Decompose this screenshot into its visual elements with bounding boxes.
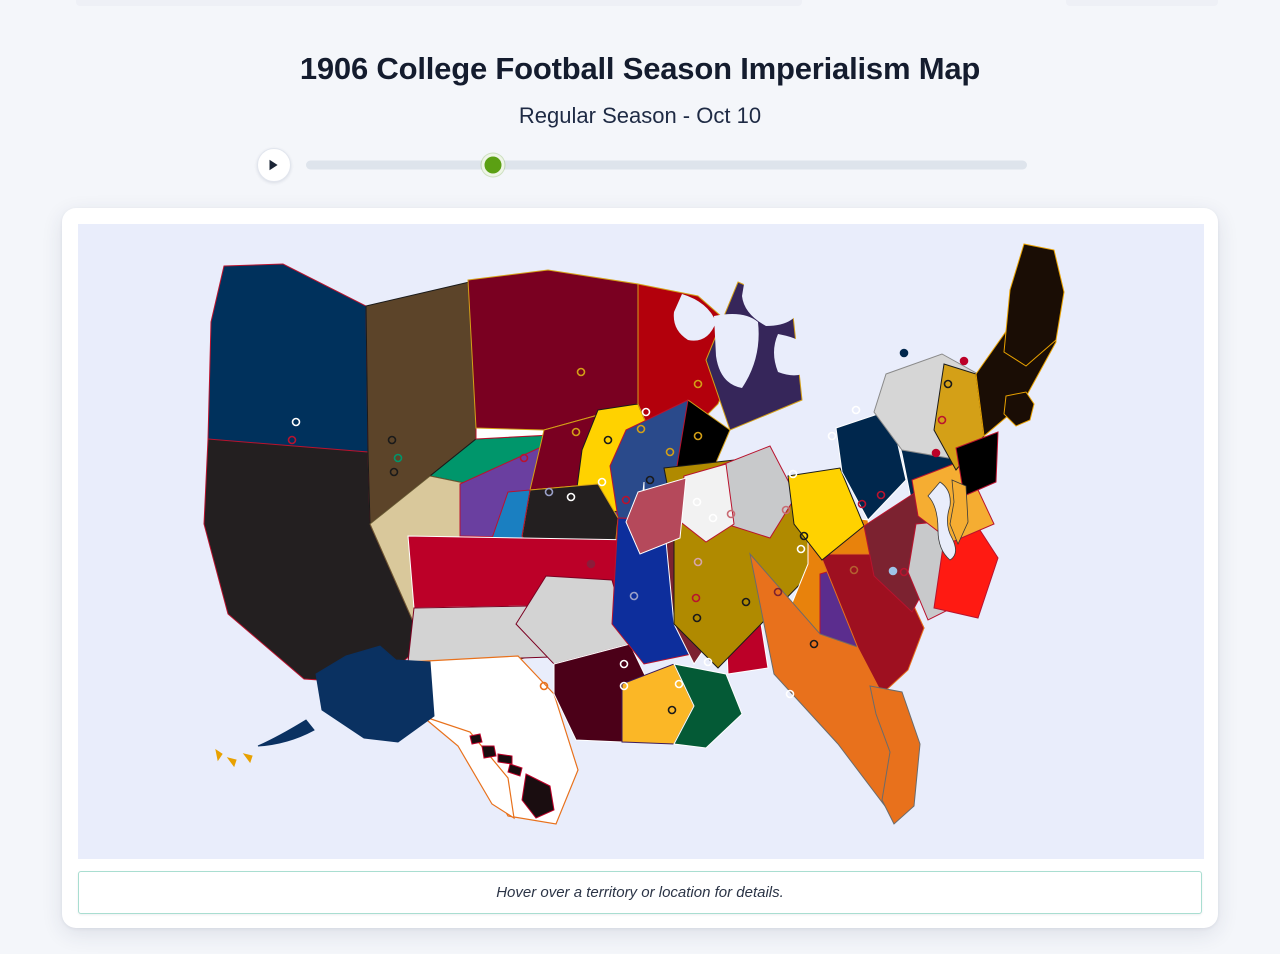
play-button[interactable] <box>257 148 291 182</box>
territory-pacific-northwest[interactable] <box>208 264 368 452</box>
timeline-controls <box>254 145 1027 185</box>
play-triangle-icon <box>268 159 279 171</box>
location-marker[interactable] <box>933 450 940 457</box>
location-marker[interactable] <box>705 659 712 666</box>
slider-track[interactable] <box>306 160 1027 169</box>
map-stage <box>78 224 1204 859</box>
location-marker[interactable] <box>901 350 908 357</box>
location-marker[interactable] <box>890 568 897 575</box>
hover-detail-panel: Hover over a territory or location for d… <box>78 871 1202 914</box>
location-marker[interactable] <box>588 561 595 568</box>
location-marker[interactable] <box>853 407 860 414</box>
top-chrome-strip-left <box>76 0 802 6</box>
location-marker[interactable] <box>829 433 836 440</box>
territory-layer[interactable] <box>204 264 1056 824</box>
imperialism-map[interactable] <box>78 224 1204 859</box>
season-week-subtitle: Regular Season - Oct 10 <box>0 87 1280 129</box>
aleutians <box>216 750 252 766</box>
cape-cod <box>1004 392 1034 426</box>
page-title: 1906 College Football Season Imperialism… <box>0 0 1280 87</box>
top-chrome-strip-right <box>1066 0 1218 6</box>
map-card: Hover over a territory or location for d… <box>62 208 1218 928</box>
slider-thumb[interactable] <box>481 153 504 176</box>
hover-hint-text: Hover over a territory or location for d… <box>496 884 784 901</box>
maine-coast <box>1004 244 1064 366</box>
location-marker[interactable] <box>961 358 968 365</box>
week-slider[interactable] <box>306 155 1027 175</box>
